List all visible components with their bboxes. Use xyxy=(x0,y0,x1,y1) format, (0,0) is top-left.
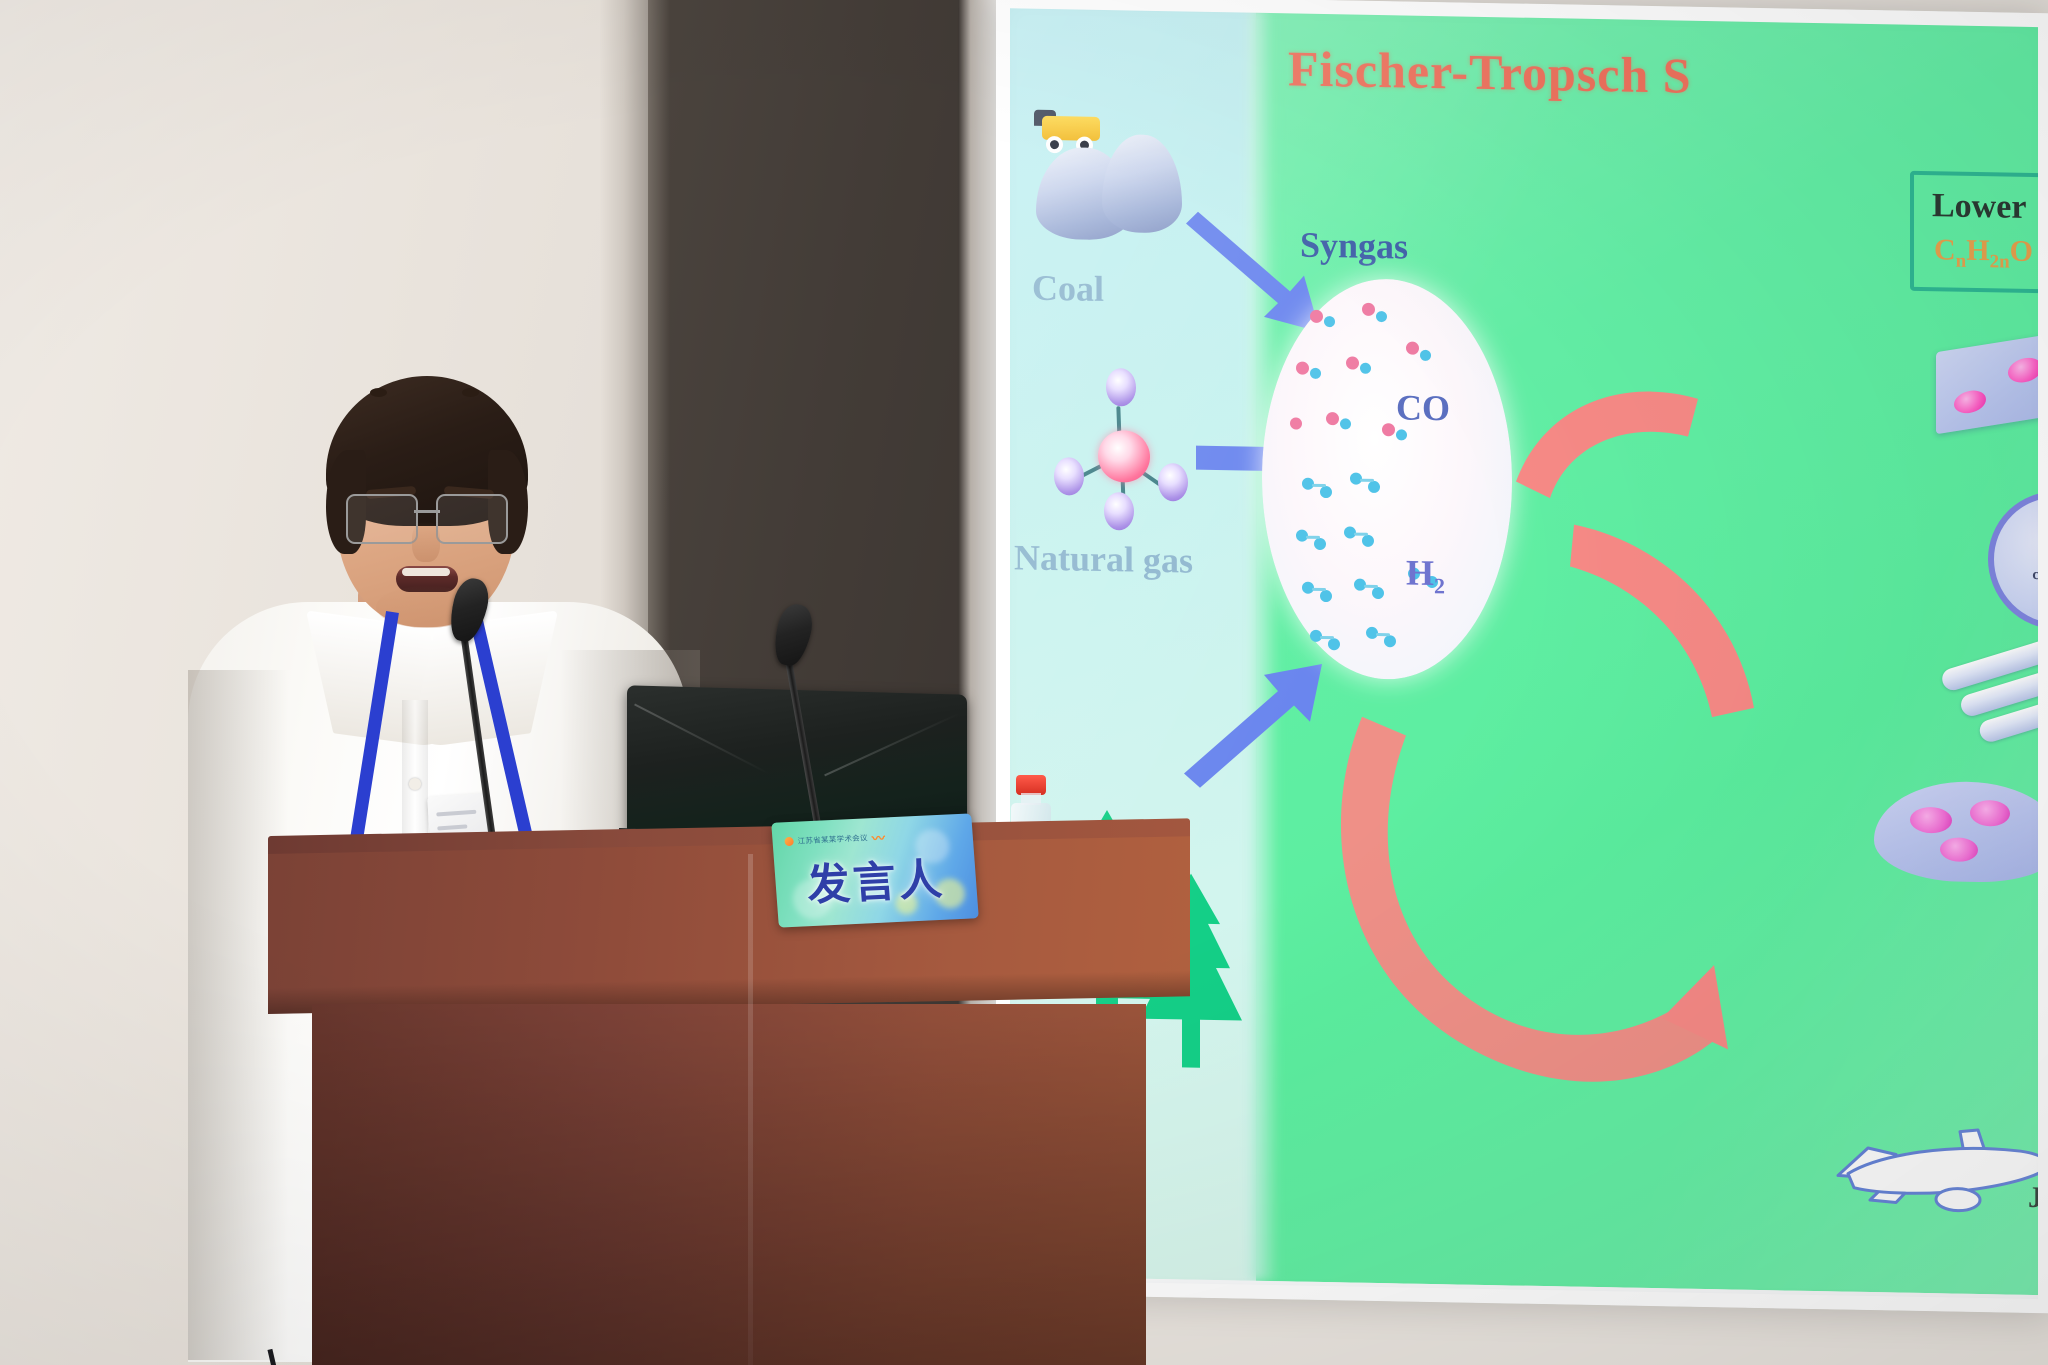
podium-shading xyxy=(312,1004,1146,1365)
arrow-biomass-to-syngas xyxy=(1178,647,1328,790)
co-label: CO xyxy=(1396,386,1450,429)
eyeglass-lens-left xyxy=(346,494,418,544)
natural-gas-label: Natural gas xyxy=(1014,536,1193,581)
podium-edge-highlight xyxy=(748,854,753,1365)
eye-left xyxy=(370,388,387,397)
airplane-icon xyxy=(1810,1101,2048,1241)
nose xyxy=(412,522,440,562)
lower-olefins-title: Lower xyxy=(1932,187,2026,227)
h2-label: H2 xyxy=(1406,552,1445,600)
lower-olefins-formula: CnH2nO xyxy=(1934,233,2033,274)
slide-panel-seam xyxy=(1248,9,1276,1282)
speaker-nameplate: 江苏省某某学术会议 〰 发言人 xyxy=(771,813,979,927)
eyeglass-lens-right xyxy=(436,494,508,544)
catalyst-badge-line2: catalyst xyxy=(2032,566,2048,584)
syngas-label: Syngas xyxy=(1300,224,1408,268)
coal-label: Coal xyxy=(1032,267,1104,310)
bottle-cap xyxy=(1016,775,1046,795)
photo-scene: Fischer-Tropsch S Coal xyxy=(0,0,2048,1365)
nameplate-title: 发言人 xyxy=(773,843,977,914)
shirt-button xyxy=(409,778,421,790)
eye-right xyxy=(462,388,479,397)
syngas-ellipse xyxy=(1262,277,1512,682)
podium-front-face xyxy=(268,836,1190,1014)
slide-heading: Fischer-Tropsch S xyxy=(1288,39,1692,104)
nameplate-org-text: 江苏省某某学术会议 xyxy=(797,832,868,846)
catalyst-badge-line1: Co xyxy=(2041,537,2048,568)
cycle-arrow-bottom xyxy=(1310,710,1730,1118)
lower-olefins-box: Lower CnH2nO xyxy=(1910,171,2048,295)
jet-fuel-label: J xyxy=(2028,1181,2043,1215)
nameplate-logo-mark: 〰 xyxy=(871,828,884,848)
logo-dot-icon xyxy=(784,837,794,846)
methane-molecule-icon xyxy=(1046,373,1206,531)
podium xyxy=(268,836,1190,1365)
